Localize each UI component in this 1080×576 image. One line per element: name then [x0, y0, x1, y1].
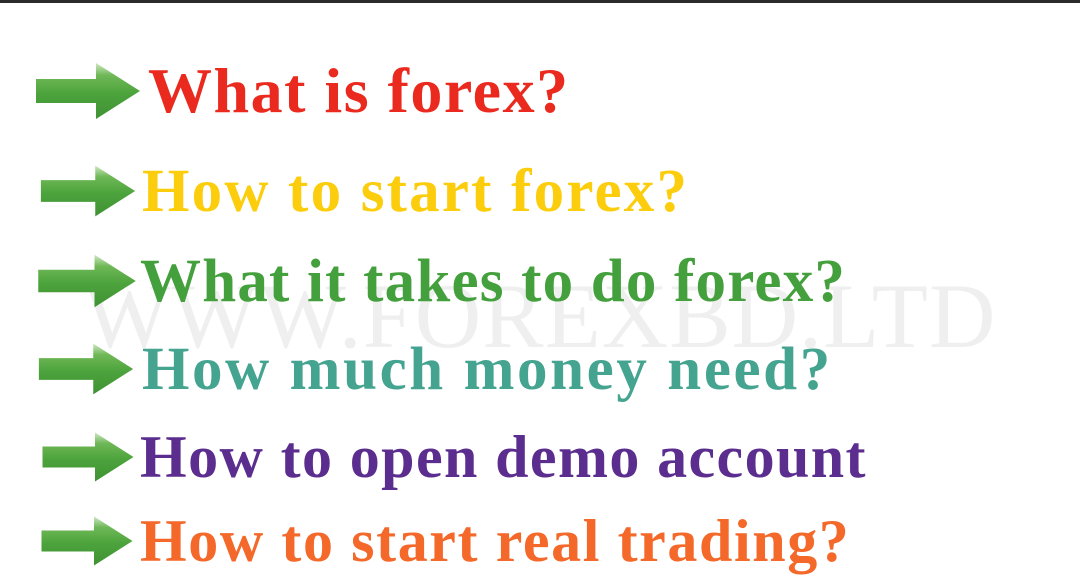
list-item-label: What it takes to do forex? [140, 251, 846, 312]
top-edge-bar [0, 0, 1080, 3]
arrow-right-icon [38, 162, 138, 220]
list-item[interactable]: What it takes to do forex? [0, 238, 846, 324]
list-item-label: How to open demo account [140, 427, 867, 487]
arrow-right-icon [40, 429, 136, 485]
arrow-right-icon [34, 59, 142, 123]
list-item[interactable]: How to start forex? [0, 148, 689, 234]
topic-list: What is forex? How to start fore [0, 0, 1080, 576]
list-item-label: How to start real trading? [140, 511, 850, 571]
list-item[interactable]: What is forex? [0, 48, 570, 134]
list-item-label: How much money need? [142, 339, 833, 400]
list-item[interactable]: How much money need? [0, 326, 833, 412]
list-item[interactable]: How to open demo account [0, 414, 867, 500]
list-item[interactable]: How to start real trading? [0, 498, 850, 576]
arrow-right-icon [36, 340, 136, 398]
list-item-label: How to start forex? [142, 161, 689, 222]
list-item-label: What is forex? [148, 59, 570, 123]
arrow-right-icon [38, 513, 136, 569]
arrow-right-icon [36, 251, 138, 311]
slide-canvas: WWW.FOREXBD.LTD What is forex? [0, 0, 1080, 576]
